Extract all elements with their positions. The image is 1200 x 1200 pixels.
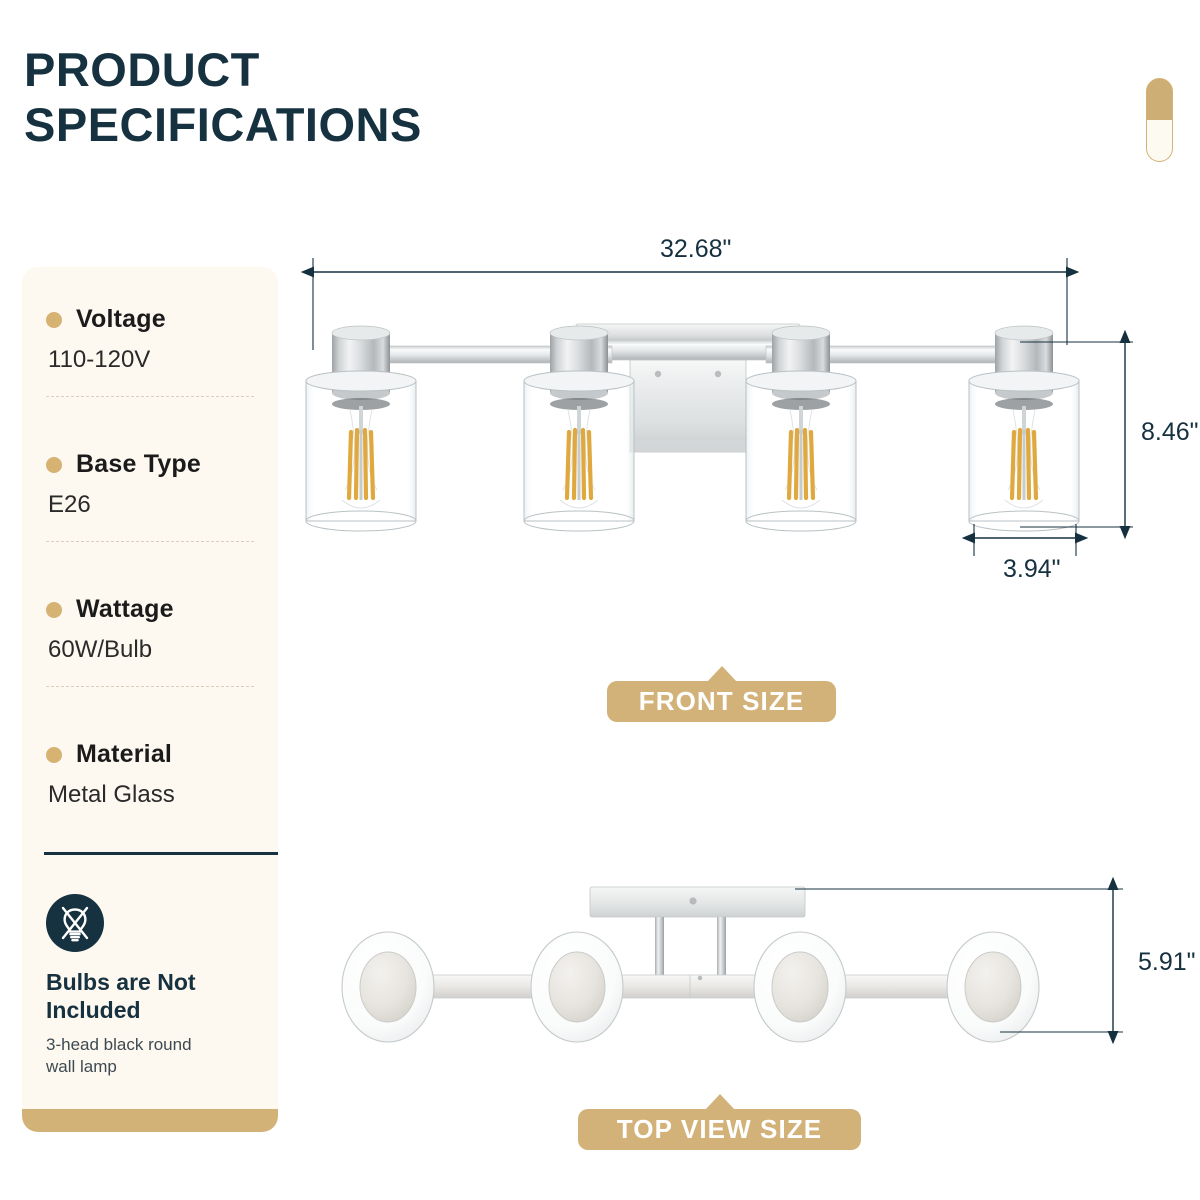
- bullet-dot-icon: [46, 457, 62, 473]
- bullet-dot-icon: [46, 747, 62, 763]
- top-view-dimension-lines: [795, 889, 1123, 1032]
- top-view-rod-left: [655, 917, 664, 979]
- spec-item-wattage: Wattage 60W/Bulb: [46, 595, 254, 687]
- page-title-line-2: SPECIFICATIONS: [24, 97, 664, 152]
- card-footer-bar: [22, 1109, 278, 1132]
- dimension-label-width: 32.68": [660, 235, 731, 264]
- spec-section-divider: [44, 852, 278, 855]
- page-title-line-1: PRODUCT: [24, 42, 664, 97]
- spec-divider: [46, 686, 254, 687]
- bullet-dot-icon: [46, 602, 62, 618]
- top-view-shade-2: [531, 932, 623, 1042]
- no-bulb-icon: [46, 894, 104, 952]
- top-view-rod-right: [717, 917, 726, 979]
- light-head-4: [969, 326, 1079, 531]
- front-size-badge: FRONT SIZE: [607, 681, 836, 722]
- light-head-2: [524, 326, 634, 531]
- front-view-dimension-lines: [313, 258, 1133, 556]
- bullet-dot-icon: [46, 312, 62, 328]
- dimension-label-height: 8.46": [1141, 418, 1199, 447]
- dimension-label-shade-width: 3.94": [1003, 555, 1061, 584]
- light-head-1: [306, 326, 416, 531]
- spec-label: Material: [76, 740, 172, 769]
- spec-label: Base Type: [76, 450, 201, 479]
- top-view-mount-plate: [590, 887, 805, 917]
- spec-divider: [46, 541, 254, 542]
- spec-value: Metal Glass: [48, 781, 254, 809]
- notice-subtitle-line-1: 3-head black round: [46, 1035, 192, 1054]
- spec-divider: [46, 396, 254, 397]
- notice-subtitle-line-2: wall lamp: [46, 1057, 117, 1076]
- notice-title: Bulbs are Not Included: [46, 968, 261, 1024]
- filament-bulb: [1012, 406, 1036, 500]
- front-view-fixture: [306, 324, 1079, 531]
- light-head-3: [746, 326, 856, 531]
- fixture-arms: [380, 346, 1038, 363]
- spec-label: Voltage: [76, 305, 166, 334]
- spec-value: 110-120V: [48, 346, 254, 374]
- top-view-bar: [380, 975, 1000, 998]
- wall-mount-backplate: [576, 324, 800, 452]
- page-title: PRODUCT SPECIFICATIONS: [24, 42, 664, 153]
- bulbs-not-included-notice: Bulbs are Not Included 3-head black roun…: [46, 894, 261, 1078]
- spec-value: E26: [48, 491, 254, 519]
- spec-label: Wattage: [76, 595, 174, 624]
- spec-item-voltage: Voltage 110-120V: [46, 305, 254, 397]
- dimension-label-depth: 5.91": [1138, 948, 1196, 977]
- top-view-shade-1: [342, 932, 434, 1042]
- pill-decoration-icon: [1146, 78, 1173, 162]
- top-view-fixture: [342, 887, 1039, 1042]
- top-view-shade-4: [947, 932, 1039, 1042]
- spec-item-base-type: Base Type E26: [46, 450, 254, 542]
- top-view-shade-3: [754, 932, 846, 1042]
- top-view-size-badge: TOP VIEW SIZE: [578, 1109, 861, 1150]
- notice-subtitle: 3-head black round wall lamp: [46, 1034, 261, 1078]
- filament-bulb: [567, 406, 591, 500]
- notice-title-line-1: Bulbs are Not: [46, 969, 196, 995]
- filament-bulb: [789, 406, 813, 500]
- spec-item-material: Material Metal Glass: [46, 740, 254, 809]
- spec-value: 60W/Bulb: [48, 636, 254, 664]
- spec-card: Voltage 110-120V Base Type E26 Wattage 6…: [22, 267, 278, 1132]
- notice-title-line-2: Included: [46, 997, 141, 1023]
- filament-bulb: [349, 406, 373, 500]
